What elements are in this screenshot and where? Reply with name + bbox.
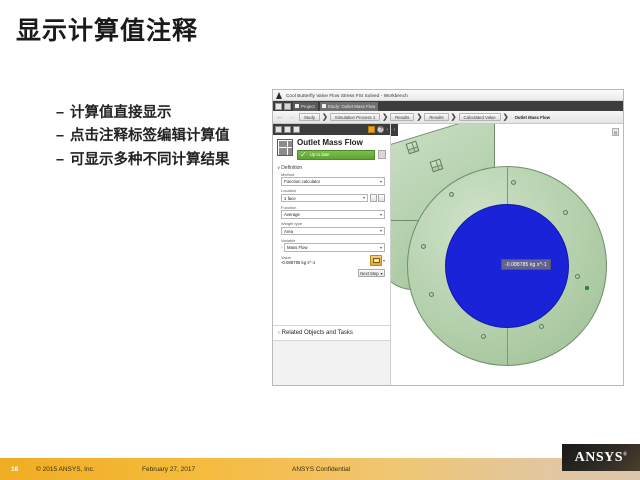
confidentiality-text: ANSYS Confidential	[292, 466, 350, 473]
annotation-icon[interactable]	[370, 255, 382, 266]
bullet-marker: –	[56, 125, 70, 148]
study-icon	[322, 104, 326, 108]
status-row: ✓ Up to date	[297, 150, 386, 160]
breadcrumb-item-results[interactable]: Results	[390, 113, 414, 122]
bolt-hole	[563, 210, 568, 215]
date-text: February 27, 2017	[142, 466, 195, 473]
outline-icon[interactable]	[284, 126, 291, 133]
app-title-bar: Cool Butterfly Valve Flow Stress FSI Sol…	[273, 90, 623, 101]
ansys-logo: ANSYS®	[562, 444, 640, 471]
bolt-hole	[575, 274, 580, 279]
location-pick-buttons	[370, 194, 385, 205]
save-project-icon[interactable]	[284, 103, 291, 110]
copyright-text: © 2015 ANSYS, Inc.	[36, 466, 95, 473]
chevron-down-icon: ▾	[381, 271, 383, 276]
location-row: Location 1 face	[281, 188, 385, 205]
variable-value: Mass Flow	[287, 245, 308, 250]
bullet-marker: –	[56, 149, 70, 172]
field-weight-type: Weight type Area	[281, 221, 385, 235]
filter-icon[interactable]	[368, 126, 375, 133]
chevron-right-icon: ❯	[451, 114, 457, 121]
tab-project[interactable]: Project	[293, 102, 318, 111]
check-icon: ✓	[300, 151, 307, 159]
chevron-down-icon	[380, 181, 382, 183]
chevron-down-icon	[363, 197, 365, 199]
status-badge: ✓ Up to date	[297, 150, 375, 160]
definition-form: Method Function calculator Location 1 fa…	[273, 172, 390, 325]
ansys-a-icon	[276, 92, 283, 99]
details-panel: ? ‹ Outlet Mass Flow ✓ Up to date	[273, 124, 391, 386]
chevron-down-icon	[380, 247, 382, 249]
method-select[interactable]: Function calculator	[281, 177, 385, 186]
next-step-button[interactable]: Next Step ▾	[358, 269, 385, 278]
chevron-down-icon: ∨	[277, 165, 280, 170]
3d-viewport[interactable]: ‹ ▤ -0.088785 kg s^-1	[391, 124, 623, 386]
chevron-down-icon[interactable]	[383, 260, 385, 262]
section-definition-label: Definition	[281, 165, 302, 171]
bullet-list: – 计算值直接显示 – 点击注释标签编辑计算值 – 可显示多种不同计算结果	[56, 102, 271, 172]
next-step-label: Next Step	[360, 271, 378, 276]
chevron-down-icon	[380, 230, 382, 232]
location-select[interactable]: 1 face	[281, 194, 368, 203]
bullet-text: 点击注释标签编辑计算值	[70, 125, 230, 148]
related-label: Related Objects and Tasks	[282, 330, 353, 336]
field-weight-type-label: Weight type	[281, 221, 385, 226]
chevron-right-icon: ❯	[503, 114, 509, 121]
slide: 显示计算值注释 – 计算值直接显示 – 点击注释标签编辑计算值 – 可显示多种不…	[0, 0, 640, 480]
update-button[interactable]	[378, 150, 386, 159]
field-variable-label: Variable	[281, 238, 385, 243]
select-icon[interactable]	[275, 126, 282, 133]
list-item: – 可显示多种不同计算结果	[56, 149, 271, 172]
bolt-hole	[429, 292, 434, 297]
list-item: – 计算值直接显示	[56, 102, 271, 125]
new-project-icon[interactable]	[275, 103, 282, 110]
chevron-right-icon: ❯	[382, 114, 388, 121]
location-value: 1 face	[284, 196, 296, 201]
project-icon	[295, 104, 299, 108]
breadcrumb: ← → Study ❯ Simulation Process 1 ❯ Resul…	[273, 111, 623, 124]
page-number: 16	[11, 466, 18, 473]
bolt-hole	[421, 244, 426, 249]
breadcrumb-item-simulation-process-1[interactable]: Simulation Process 1	[330, 113, 380, 122]
list-item: – 点击注释标签编辑计算值	[56, 125, 271, 148]
panel-header: Outlet Mass Flow ✓ Up to date	[273, 135, 390, 162]
app-window-title: Cool Butterfly Valve Flow Stress FSI Sol…	[286, 93, 408, 98]
annotation-button-group	[370, 255, 385, 266]
calculator-icon	[277, 139, 293, 156]
chevron-left-icon[interactable]: ‹	[386, 127, 388, 133]
tab-project-label: Project	[301, 104, 315, 109]
arrow-left-icon[interactable]: ←	[275, 113, 285, 121]
field-variable: Variable › Mass Flow	[281, 238, 385, 252]
help-icon[interactable]: ?	[377, 126, 384, 133]
bullet-marker: –	[56, 102, 70, 125]
section-header-definition[interactable]: ∨Definition	[273, 162, 390, 172]
app-tab-strip: Project Study: Outlet Mass Flow	[273, 101, 623, 111]
chevron-right-icon: ❯	[322, 114, 328, 121]
breadcrumb-item-study[interactable]: Study	[299, 113, 320, 122]
tab-study-outlet-mass-flow[interactable]: Study: Outlet Mass Flow	[320, 102, 379, 111]
clear-selection-icon[interactable]	[378, 194, 385, 202]
status-text: Up to date	[310, 152, 330, 157]
value-annotation[interactable]: -0.088785 kg s^-1	[501, 259, 551, 270]
application-screenshot: Cool Butterfly Valve Flow Stress FSI Sol…	[272, 89, 624, 386]
pick-face-icon[interactable]	[370, 194, 377, 202]
variable-row: › Mass Flow	[281, 243, 385, 252]
bullet-text: 可显示多种不同计算结果	[70, 149, 230, 172]
field-method-label: Method	[281, 172, 385, 177]
chevron-right-icon: ›	[278, 330, 280, 336]
chevron-down-icon	[380, 214, 382, 216]
panel-title: Outlet Mass Flow	[297, 139, 386, 148]
field-function: Function Average	[281, 205, 385, 219]
bullet-text: 计算值直接显示	[70, 102, 172, 125]
weight-type-select[interactable]: Area	[281, 227, 385, 236]
field-method: Method Function calculator	[281, 172, 385, 186]
properties-icon[interactable]	[293, 126, 300, 133]
panel-toolbar: ? ‹	[273, 124, 390, 135]
field-location: Location 1 face	[281, 188, 368, 202]
field-function-label: Function	[281, 205, 385, 210]
value-group: Value -0.088785 kg s^-1	[281, 255, 315, 265]
function-select[interactable]: Average	[281, 210, 385, 219]
chevron-left-icon[interactable]: ‹	[391, 124, 398, 136]
slide-footer: 16 © 2015 ANSYS, Inc. February 27, 2017 …	[0, 458, 640, 480]
breadcrumb-item-calculated-value[interactable]: Calculated Value	[459, 113, 501, 122]
bolt-hole	[449, 192, 454, 197]
chevron-right-icon: ❯	[416, 114, 422, 121]
method-value: Function calculator	[284, 179, 320, 184]
value-text: -0.088785 kg s^-1	[281, 260, 315, 265]
variable-select[interactable]: Mass Flow	[284, 243, 385, 252]
arrow-right-icon[interactable]: →	[287, 113, 297, 121]
bolt-hole	[481, 334, 486, 339]
bolt-hole	[539, 324, 544, 329]
chevron-right-icon[interactable]: ›	[281, 245, 283, 250]
section-header-related-objects[interactable]: ›Related Objects and Tasks	[273, 325, 390, 341]
panel-header-content: Outlet Mass Flow ✓ Up to date	[297, 139, 386, 160]
weight-type-value: Area	[284, 229, 293, 234]
value-block: Value -0.088785 kg s^-1	[281, 255, 385, 266]
panel-empty-area	[273, 341, 390, 386]
annotation-anchor-icon	[585, 286, 589, 290]
app-body: ? ‹ Outlet Mass Flow ✓ Up to date	[273, 124, 623, 386]
function-value: Average	[284, 212, 300, 217]
viewport-options-icon[interactable]: ▤	[612, 128, 619, 136]
breadcrumb-item-outlet-mass-flow: Outlet Mass Flow	[511, 113, 554, 122]
bolt-hole	[511, 180, 516, 185]
field-location-label: Location	[281, 188, 368, 193]
breadcrumb-item-results-2[interactable]: Results	[424, 113, 448, 122]
ansys-logo-text: ANSYS®	[575, 450, 628, 466]
tab-study-label: Study: Outlet Mass Flow	[328, 104, 376, 109]
page-title: 显示计算值注释	[16, 18, 198, 46]
